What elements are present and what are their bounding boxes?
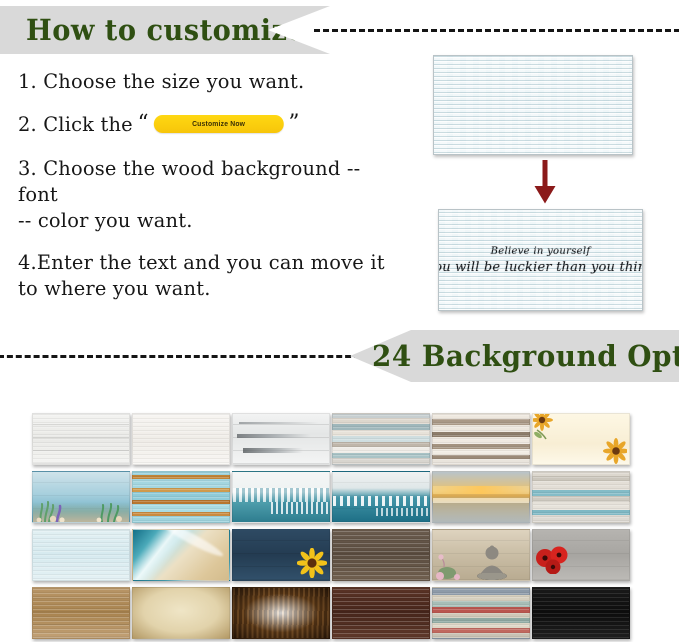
- background-thumb-distressed-white-wood[interactable]: [232, 413, 330, 465]
- background-thumb-cream-sunflower[interactable]: [532, 413, 630, 465]
- background-thumb-black-wood[interactable]: [532, 587, 630, 639]
- banner-background-options: 24 Background Options: [350, 330, 679, 382]
- background-thumb-cream-white-wood[interactable]: [132, 413, 230, 465]
- background-thumb-weathered-brown-white-wood[interactable]: [432, 413, 530, 465]
- background-thumb-white-washed-plank[interactable]: [32, 413, 130, 465]
- background-thumb-teal-gradient-ocean[interactable]: [332, 471, 430, 523]
- background-thumb-navy-wood-sunflower[interactable]: [232, 529, 330, 581]
- step-4: 4.Enter the text and you can move it to …: [18, 249, 398, 301]
- down-arrow-icon: [534, 160, 556, 204]
- background-thumb-teal-white-abstract[interactable]: [232, 471, 330, 523]
- banner-bottom-title: 24 Background Options: [372, 339, 679, 373]
- preview-quote-line-2: You will be luckier than you think: [438, 260, 643, 275]
- zen-plant-icon: [435, 554, 465, 580]
- background-thumb-coral-seashell-beach[interactable]: [32, 471, 130, 523]
- step-2: 2. Click the “ Customize Now ”: [18, 110, 398, 139]
- step-4-line-1: 4.Enter the text and you can move it: [18, 249, 398, 275]
- background-thumb-red-brown-wood[interactable]: [332, 587, 430, 639]
- poppy-icon: [535, 542, 575, 574]
- background-thumb-beach-shoreline[interactable]: [132, 529, 230, 581]
- step-4-line-2: to where you want.: [18, 275, 398, 301]
- preview-blank-board: [433, 55, 633, 155]
- buddha-icon: [475, 540, 509, 580]
- step-3-line-1: 3. Choose the wood background -- font: [18, 155, 398, 207]
- coral-icon-2: [94, 498, 128, 522]
- background-thumb-teal-orange-rustic-plank[interactable]: [132, 471, 230, 523]
- background-thumb-cream-parchment[interactable]: [132, 587, 230, 639]
- coral-icon: [35, 496, 71, 522]
- background-thumb-dark-walnut-wood[interactable]: [232, 587, 330, 639]
- background-thumb-pastel-red-striped-plank[interactable]: [432, 587, 530, 639]
- banner-top-title: How to customize: [26, 13, 305, 47]
- banner-how-to-customize: How to customize: [0, 6, 330, 54]
- background-thumb-buddha-zen-wood[interactable]: [432, 529, 530, 581]
- background-thumb-golden-sunset-seascape[interactable]: [432, 471, 530, 523]
- close-quote: ”: [288, 110, 299, 139]
- background-thumb-multicolor-pastel-plank[interactable]: [332, 413, 430, 465]
- step-3-line-2: -- color you want.: [18, 207, 398, 233]
- instruction-list: 1. Choose the size you want. 2. Click th…: [18, 68, 410, 317]
- step-2-prefix: 2. Click the: [18, 111, 133, 137]
- background-thumb-teal-gray-plank[interactable]: [532, 471, 630, 523]
- step-3: 3. Choose the wood background -- font --…: [18, 155, 398, 233]
- background-thumb-light-blue-wood[interactable]: [32, 529, 130, 581]
- open-quote: “: [138, 110, 149, 139]
- customize-now-button[interactable]: Customize Now: [154, 115, 284, 133]
- sunflower-icon-2: [599, 438, 627, 464]
- dashed-connector-top: [314, 29, 679, 32]
- dashed-connector-bottom: [0, 355, 360, 358]
- step-1: 1. Choose the size you want.: [18, 68, 398, 94]
- sunflower-icon: [533, 414, 559, 440]
- preview-quote-line-1: Believe in yourself: [491, 246, 591, 257]
- background-options-grid: [32, 413, 630, 639]
- background-thumb-dark-brown-wood[interactable]: [332, 529, 430, 581]
- background-thumb-tan-wood-plank[interactable]: [32, 587, 130, 639]
- preview-text-board: Believe in yourself You will be luckier …: [438, 209, 643, 311]
- infographic-page: How to customize 1. Choose the size you …: [0, 0, 679, 642]
- wood-grain-overlay: [434, 56, 632, 154]
- background-thumb-gray-wood-red-poppy[interactable]: [532, 529, 630, 581]
- sunflower-icon-3: [297, 548, 327, 578]
